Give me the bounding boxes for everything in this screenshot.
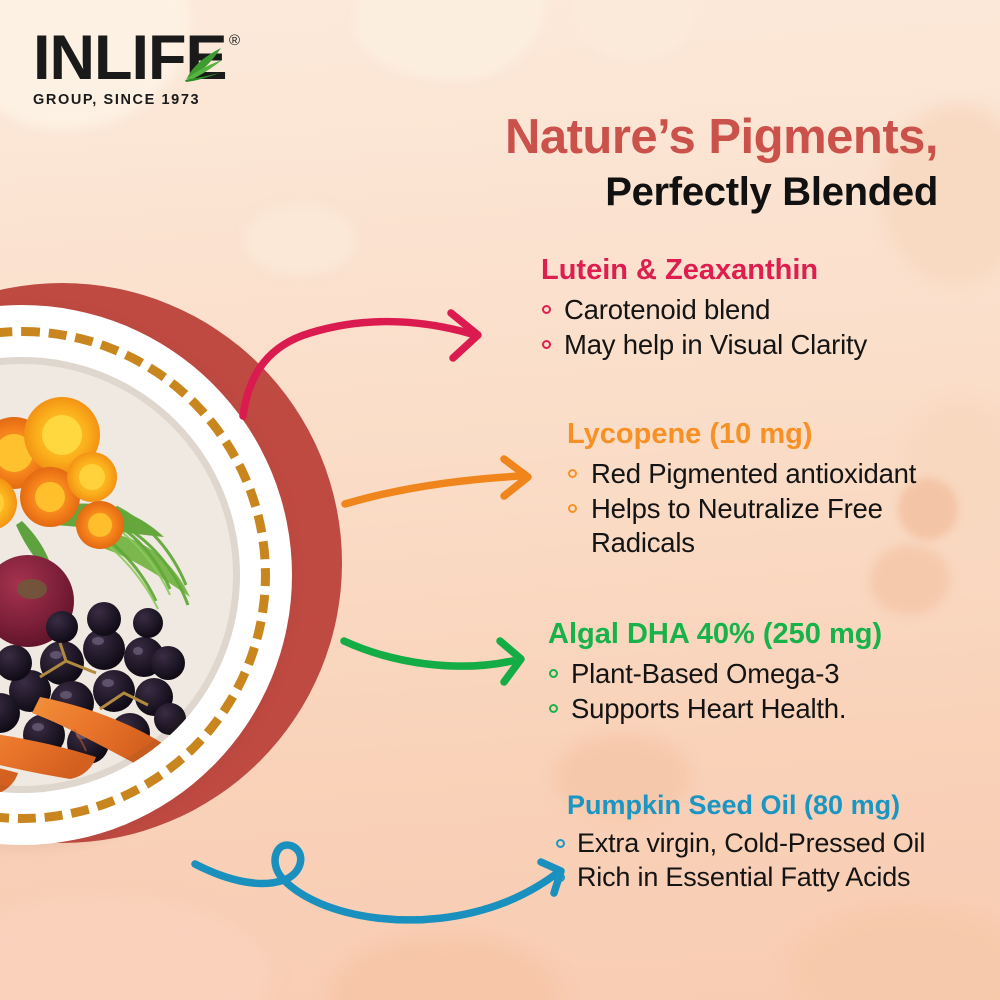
ingredient-title: Lycopene (10 mg) xyxy=(567,418,965,450)
bullet-text: Plant-Based Omega-3 xyxy=(571,658,839,689)
arrow-lycopene xyxy=(345,459,528,504)
leaf-icon xyxy=(181,39,225,83)
bullet-text: May help in Visual Clarity xyxy=(564,329,867,360)
registered-trademark-symbol: ® xyxy=(229,32,240,49)
bullet-dot-icon xyxy=(549,704,558,713)
list-item: Extra virgin, Cold-Pressed Oil xyxy=(555,827,925,860)
bullet-text: Supports Heart Health. xyxy=(571,693,846,724)
ingredient-bullet-list: Extra virgin, Cold-Pressed Oil Rich in E… xyxy=(555,827,925,894)
bullet-dot-icon xyxy=(568,504,577,513)
brand-wordmark: INLIFE ® xyxy=(33,28,248,88)
bullet-text: Red Pigmented antioxidant xyxy=(591,458,916,489)
brand-tagline: GROUP, SINCE 1973 xyxy=(33,92,248,108)
list-item: Carotenoid blend xyxy=(541,293,867,327)
bullet-dot-icon xyxy=(556,873,565,882)
list-item: Plant-Based Omega-3 xyxy=(548,657,882,691)
headline-line-2: Perfectly Blended xyxy=(505,168,938,216)
bullet-dot-icon xyxy=(556,839,565,848)
list-item: Rich in Essential Fatty Acids xyxy=(555,861,925,894)
bullet-text: Extra virgin, Cold-Pressed Oil xyxy=(577,828,925,858)
ingredient-block-lutein: Lutein & Zeaxanthin Carotenoid blend May… xyxy=(541,254,867,362)
brand-logo: INLIFE ® GROUP, SINCE 1973 xyxy=(33,28,248,108)
ingredient-bullet-list: Plant-Based Omega-3 Supports Heart Healt… xyxy=(548,657,882,725)
ingredient-block-pumpkin: Pumpkin Seed Oil (80 mg) Extra virgin, C… xyxy=(567,790,925,894)
produce-plate-artwork xyxy=(0,283,352,853)
list-item: Red Pigmented antioxidant xyxy=(567,457,965,491)
bullet-dot-icon xyxy=(542,340,551,349)
ingredient-bullet-list: Red Pigmented antioxidant Helps to Neutr… xyxy=(567,457,965,559)
ingredient-title: Lutein & Zeaxanthin xyxy=(541,254,867,286)
headline: Nature’s Pigments, Perfectly Blended xyxy=(505,110,938,216)
bullet-text: Carotenoid blend xyxy=(564,294,770,325)
ingredient-bullet-list: Carotenoid blend May help in Visual Clar… xyxy=(541,293,867,361)
bullet-dot-icon xyxy=(542,305,551,314)
arrow-pumpkin xyxy=(195,845,561,920)
headline-line-1: Nature’s Pigments, xyxy=(505,110,938,165)
ingredient-title: Pumpkin Seed Oil (80 mg) xyxy=(567,790,925,820)
ingredient-title: Algal DHA 40% (250 mg) xyxy=(548,618,882,650)
background-blob xyxy=(330,935,560,1000)
ingredient-block-dha: Algal DHA 40% (250 mg) Plant-Based Omega… xyxy=(548,618,882,726)
bullet-dot-icon xyxy=(568,469,577,478)
poster-canvas: INLIFE ® GROUP, SINCE 1973 Nature’s Pigm… xyxy=(0,0,1000,1000)
ingredient-block-lycopene: Lycopene (10 mg) Red Pigmented antioxida… xyxy=(567,418,965,560)
list-item: Supports Heart Health. xyxy=(548,692,882,726)
background-blob xyxy=(245,205,355,275)
list-item: May help in Visual Clarity xyxy=(541,328,867,362)
list-item: Helps to Neutralize Free Radicals xyxy=(567,492,965,560)
background-blob xyxy=(355,0,545,80)
arrow-dha xyxy=(344,641,521,682)
background-blob xyxy=(575,0,695,60)
bullet-text: Helps to Neutralize Free Radicals xyxy=(591,493,883,558)
background-blob xyxy=(0,900,270,1000)
bullet-dot-icon xyxy=(549,669,558,678)
background-blob xyxy=(790,905,1000,1000)
bullet-text: Rich in Essential Fatty Acids xyxy=(577,862,910,892)
